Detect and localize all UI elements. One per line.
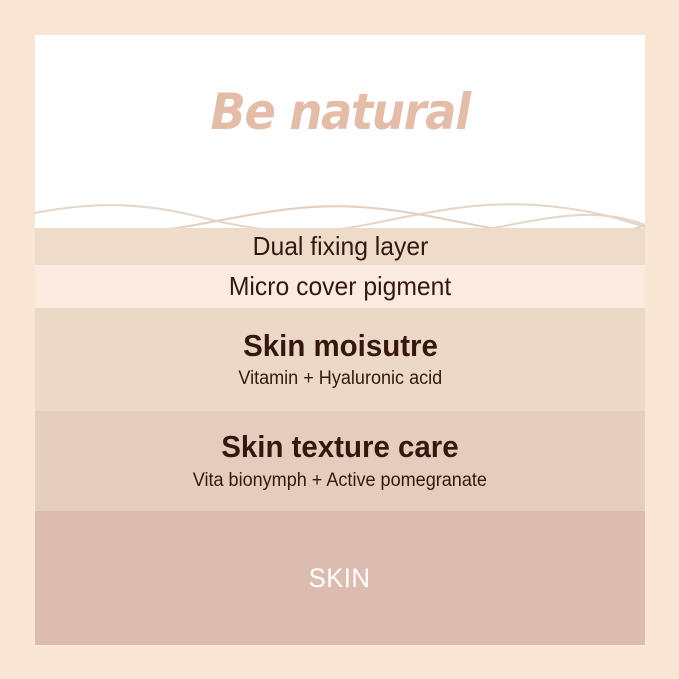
product-layer-infographic: Be natural Dual fixing layer Micro cover… [0,0,679,679]
layer-stack: Dual fixing layer Micro cover pigment Sk… [35,228,645,645]
hero-section: Be natural [35,35,645,228]
layer-title: Dual fixing layer [252,233,428,260]
layer-title: SKIN [309,564,371,592]
layer-title: Skin moisutre [243,330,438,363]
layer-band-skin: SKIN [35,511,645,645]
layer-subtitle: Vita bionymph + Active pomegranate [193,471,487,491]
layer-title: Skin texture care [221,431,458,464]
infographic-card: Be natural Dual fixing layer Micro cover… [35,35,645,645]
page-title: Be natural [56,87,623,137]
layer-subtitle: Vitamin + Hyaluronic acid [238,369,442,389]
layer-band-skin-texture-care: Skin texture care Vita bionymph + Active… [35,411,645,511]
layer-band-micro-cover-pigment: Micro cover pigment [35,265,645,308]
layer-band-dual-fixing-layer: Dual fixing layer [35,228,645,265]
layer-band-skin-moisture: Skin moisutre Vitamin + Hyaluronic acid [35,308,645,411]
layer-title: Micro cover pigment [229,273,451,300]
